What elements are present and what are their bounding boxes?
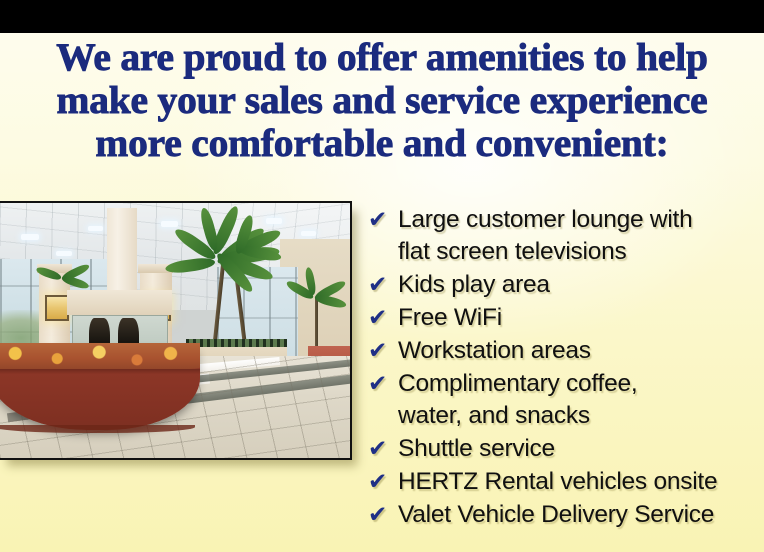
desk-lip bbox=[0, 369, 200, 373]
check-icon: ✔ bbox=[368, 466, 398, 498]
check-icon: ✔ bbox=[368, 269, 398, 301]
list-item: ✔ Complimentary coffee, water, and snack… bbox=[368, 368, 764, 432]
list-item: ✔ HERTZ Rental vehicles onsite bbox=[368, 466, 764, 498]
ceiling-light bbox=[21, 234, 39, 240]
list-item: ✔ Free WiFi bbox=[368, 302, 764, 334]
list-item-label: Shuttle service bbox=[398, 433, 764, 465]
list-item: ✔ Workstation areas bbox=[368, 335, 764, 367]
showroom-photo-image bbox=[0, 203, 350, 458]
list-item: ✔ Shuttle service bbox=[368, 433, 764, 465]
showroom-photo bbox=[0, 201, 352, 460]
check-icon: ✔ bbox=[368, 204, 398, 236]
check-icon: ✔ bbox=[368, 368, 398, 400]
top-black-bar bbox=[0, 0, 764, 33]
headline-line-1: We are proud to offer amenities to help bbox=[0, 36, 764, 79]
check-icon: ✔ bbox=[368, 335, 398, 367]
desk-counter-top bbox=[0, 343, 200, 369]
page-title: We are proud to offer amenities to help … bbox=[0, 36, 764, 165]
list-item: ✔ Kids play area bbox=[368, 269, 764, 301]
list-item-label: HERTZ Rental vehicles onsite bbox=[398, 466, 764, 498]
list-item-label: Complimentary coffee, water, and snacks bbox=[398, 368, 764, 432]
palm-trunk bbox=[213, 264, 225, 341]
palm-frond bbox=[165, 256, 216, 275]
palm-tree-left bbox=[32, 249, 109, 315]
list-item-label: Free WiFi bbox=[398, 302, 764, 334]
list-item: ✔ Large customer lounge with flat screen… bbox=[368, 204, 764, 268]
slide-canvas: We are proud to offer amenities to help … bbox=[0, 0, 764, 552]
list-item: ✔ Valet Vehicle Delivery Service bbox=[368, 499, 764, 531]
palm-trunk bbox=[315, 297, 318, 349]
list-item-label: Large customer lounge with flat screen t… bbox=[398, 204, 764, 268]
list-item-label: Kids play area bbox=[398, 269, 764, 301]
palm-frond bbox=[35, 265, 62, 281]
ceiling-light bbox=[88, 226, 103, 231]
headline-line-2: make your sales and service experience bbox=[0, 79, 764, 122]
check-icon: ✔ bbox=[368, 302, 398, 334]
check-icon: ✔ bbox=[368, 499, 398, 531]
list-item-label: Valet Vehicle Delivery Service bbox=[398, 499, 764, 531]
check-icon: ✔ bbox=[368, 433, 398, 465]
list-item-label: Workstation areas bbox=[398, 335, 764, 367]
amenities-list: ✔ Large customer lounge with flat screen… bbox=[368, 204, 764, 532]
palm-tree-right bbox=[280, 264, 350, 351]
planter-hedge bbox=[186, 339, 288, 347]
headline-line-3: more comfortable and convenient: bbox=[0, 122, 764, 165]
